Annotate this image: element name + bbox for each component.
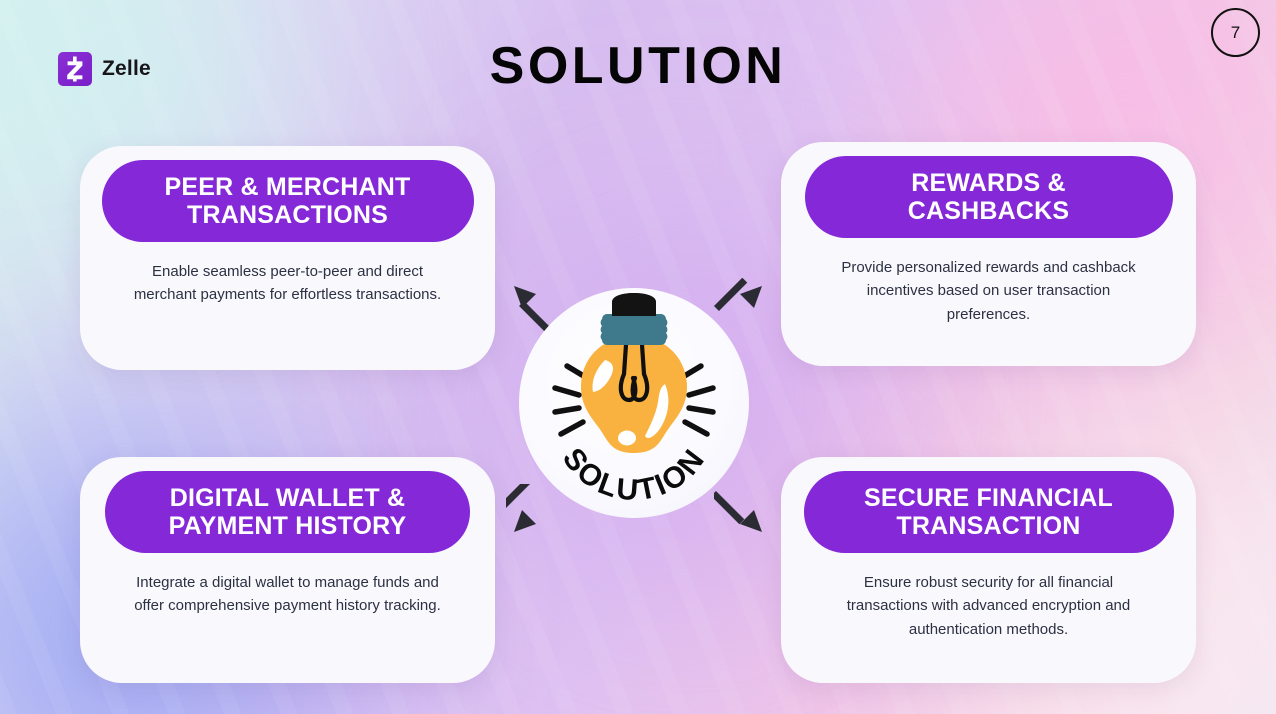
- card-secure-financial-transaction[interactable]: SECURE FINANCIAL TRANSACTION Ensure robu…: [781, 457, 1196, 683]
- card-description: Enable seamless peer-to-peer and direct …: [128, 260, 448, 307]
- card-title-pill: REWARDS & CASHBACKS: [805, 156, 1173, 238]
- card-title-line1: DIGITAL WALLET &: [170, 484, 406, 512]
- card-title-line1: REWARDS &: [911, 169, 1066, 197]
- page-number-value: 7: [1231, 23, 1240, 43]
- card-title-pill: PEER & MERCHANT TRANSACTIONS: [102, 160, 474, 242]
- card-title-line1: SECURE FINANCIAL: [864, 484, 1113, 512]
- card-digital-wallet-payment-history[interactable]: DIGITAL WALLET & PAYMENT HISTORY Integra…: [80, 457, 495, 683]
- card-title-line1: PEER & MERCHANT: [164, 173, 410, 201]
- page-number-badge: 7: [1211, 8, 1260, 57]
- card-title-line2: TRANSACTIONS: [187, 201, 388, 229]
- card-description: Integrate a digital wallet to manage fun…: [128, 571, 448, 618]
- card-title-pill: DIGITAL WALLET & PAYMENT HISTORY: [105, 471, 470, 553]
- page-title: SOLUTION: [0, 36, 1276, 96]
- card-peer-merchant-transactions[interactable]: PEER & MERCHANT TRANSACTIONS Enable seam…: [80, 146, 495, 370]
- lightbulb-icon: SOLUTION: [519, 288, 749, 518]
- card-title-line2: TRANSACTION: [896, 512, 1080, 540]
- card-description: Provide personalized rewards and cashbac…: [839, 256, 1139, 326]
- card-title-pill: SECURE FINANCIAL TRANSACTION: [804, 471, 1174, 553]
- solution-slide: Zelle SOLUTION 7 PEER & MERCHANT TRANSAC…: [0, 0, 1276, 714]
- card-title-line2: PAYMENT HISTORY: [169, 512, 407, 540]
- card-title-line2: CASHBACKS: [908, 197, 1070, 225]
- card-description: Ensure robust security for all financial…: [824, 571, 1154, 641]
- center-solution-graphic: SOLUTION: [519, 288, 749, 518]
- card-rewards-cashbacks[interactable]: REWARDS & CASHBACKS Provide personalized…: [781, 142, 1196, 366]
